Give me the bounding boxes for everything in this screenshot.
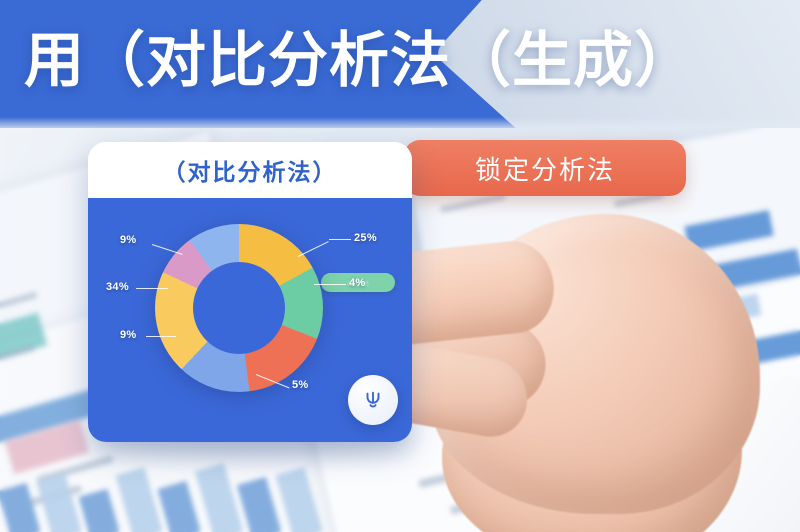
leader-line: [136, 288, 168, 289]
leader-line: [329, 239, 351, 240]
action-button[interactable]: [348, 375, 398, 425]
card-header[interactable]: （对比分析法）: [88, 142, 412, 198]
banner-fade: [0, 99, 800, 128]
slice-label-3: 9%: [120, 329, 137, 341]
slice-label-0: 25%: [354, 232, 377, 244]
leader-line: [298, 241, 329, 257]
donut-ring: [155, 224, 323, 392]
tab-locking-analysis-label: 锁定分析法: [475, 150, 615, 187]
banner: 用（对比分析法（生成）: [0, 0, 800, 128]
page-title: 用（对比分析法（生成）: [24, 22, 780, 100]
tab-comparative-analysis-label: （对比分析法）: [163, 153, 338, 187]
tab-locking-analysis[interactable]: 锁定分析法: [404, 140, 686, 196]
trident-icon: [362, 389, 384, 411]
slice-label-4: 34%: [106, 281, 129, 293]
leader-line: [314, 284, 346, 285]
slice-label-2: 5%: [292, 379, 309, 391]
leader-line: [146, 336, 176, 337]
screenshot-root: 用（对比分析法（生成） 锁定分析法 （对比分析法） anne 25%: [0, 0, 800, 532]
slice-label-5: 9%: [120, 234, 137, 246]
slice-label-1: 4%: [349, 277, 366, 289]
pointing-hand: [372, 196, 800, 532]
card-body: anne 25% 4% 5% 9% 34% 9%: [88, 198, 412, 442]
analysis-card: （对比分析法） anne 25% 4% 5% 9%: [88, 142, 412, 442]
